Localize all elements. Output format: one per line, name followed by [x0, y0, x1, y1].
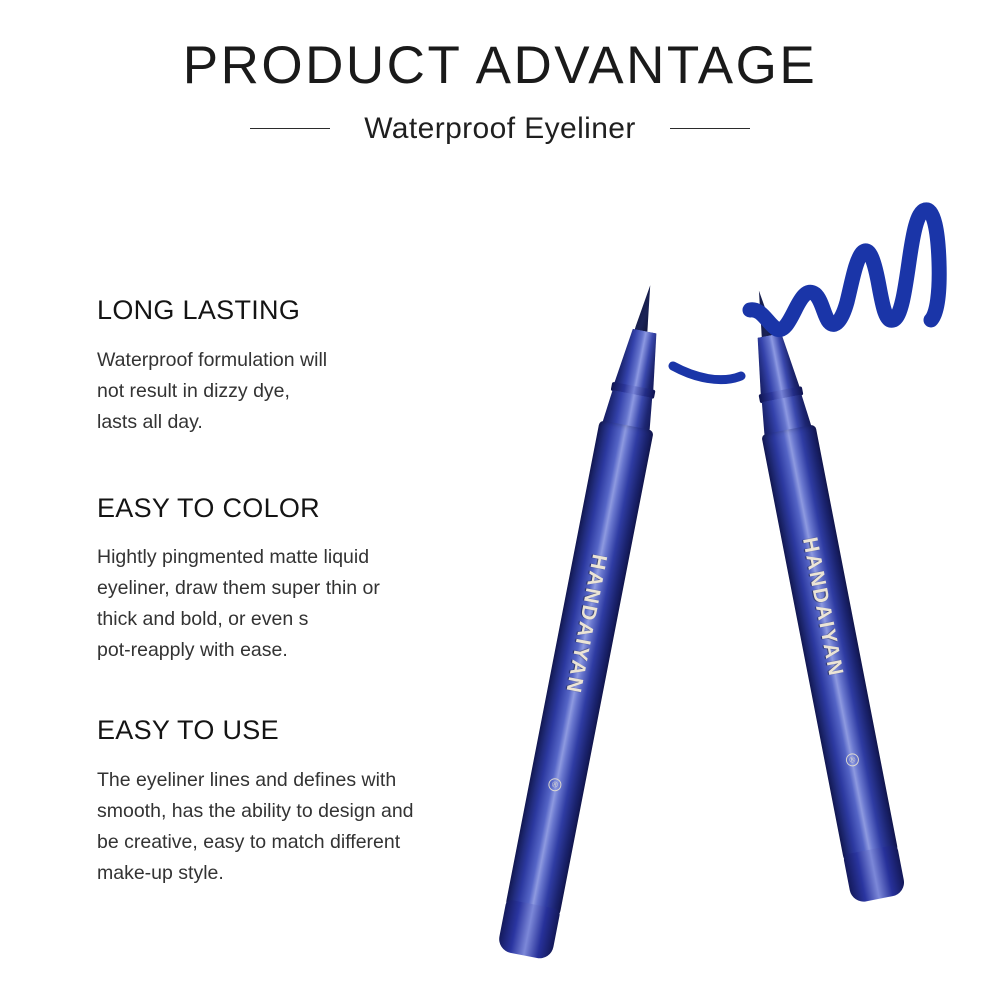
feature-line: Hightly pingmented matte liquid	[97, 542, 527, 573]
feature-line: be creative, easy to match different	[97, 827, 527, 858]
feature-line: Waterproof formulation will	[97, 345, 527, 376]
feature-line: The eyeliner lines and defines with	[97, 765, 527, 796]
eyeliner-pen-right: HANDAIYAN ®	[732, 286, 911, 906]
feature-body: Waterproof formulation will not result i…	[97, 345, 527, 438]
feature-easy-to-color: EASY TO COLOR Hightly pingmented matte l…	[97, 494, 527, 667]
feature-line: lasts all day.	[97, 407, 527, 438]
feature-body: Hightly pingmented matte liquid eyeliner…	[97, 542, 527, 666]
feature-line: thick and bold, or even s	[97, 604, 527, 635]
subtitle-row: Waterproof Eyeliner	[0, 112, 1000, 146]
divider-line-right	[670, 128, 750, 129]
feature-title: EASY TO USE	[97, 716, 527, 746]
feature-line: not result in dizzy dye,	[97, 376, 527, 407]
page-title: PRODUCT ADVANTAGE	[0, 38, 1000, 94]
pen-cap-end-left	[497, 899, 561, 961]
feature-long-lasting: LONG LASTING Waterproof formulation will…	[97, 296, 527, 438]
feature-title: LONG LASTING	[97, 296, 527, 326]
feature-list: LONG LASTING Waterproof formulation will…	[97, 296, 527, 889]
feature-line: smooth, has the ability to design and	[97, 796, 527, 827]
pen-collar-left	[614, 327, 664, 392]
divider-line-left	[250, 128, 330, 129]
feature-body: The eyeliner lines and defines with smoo…	[97, 765, 527, 889]
page-subtitle: Waterproof Eyeliner	[364, 112, 636, 146]
feature-line: pot-reapply with ease.	[97, 635, 527, 666]
product-image: HANDAIYAN ® HANDAIYAN ®	[545, 170, 975, 990]
header: PRODUCT ADVANTAGE Waterproof Eyeliner	[0, 0, 1000, 146]
feature-line: eyeliner, draw them super thin or	[97, 573, 527, 604]
ink-flick	[673, 366, 741, 380]
pen-collar-right	[750, 332, 800, 397]
feature-line: make-up style.	[97, 858, 527, 889]
feature-easy-to-use: EASY TO USE The eyeliner lines and defin…	[97, 716, 527, 889]
pen-cap-end-right	[843, 844, 907, 904]
feature-title: EASY TO COLOR	[97, 494, 527, 524]
